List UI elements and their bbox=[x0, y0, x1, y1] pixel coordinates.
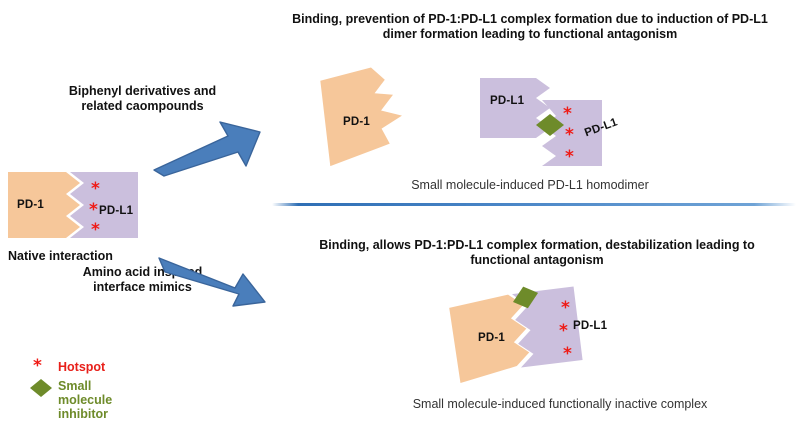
dimer-left-label: PD-L1 bbox=[490, 95, 524, 107]
bottom-panel-title: Binding, allows PD-1:PD-L1 complex forma… bbox=[282, 238, 792, 269]
native-pd1-label: PD-1 bbox=[17, 199, 44, 211]
hotspot-icon: * bbox=[563, 106, 572, 123]
free-pd1-shape bbox=[316, 68, 426, 168]
complex-pd1-label: PD-1 bbox=[478, 332, 505, 344]
upper-arrow-label: Biphenyl derivatives and related caompou… bbox=[35, 84, 250, 115]
bottom-panel-caption: Small molecule-induced functionally inac… bbox=[390, 397, 730, 412]
hotspot-icon: * bbox=[89, 202, 98, 219]
upper-arrow-icon bbox=[150, 118, 265, 178]
legend-inhibitor-label: Small molecule inhibitor bbox=[58, 379, 112, 421]
hotspot-icon: * bbox=[565, 127, 574, 144]
native-interaction-caption: Native interaction bbox=[8, 249, 178, 264]
hotspot-icon: * bbox=[565, 149, 574, 166]
figure-canvas: Binding, prevention of PD-1:PD-L1 comple… bbox=[0, 0, 800, 428]
legend-diamond-icon bbox=[30, 379, 52, 397]
complex-pdl1-label: PD-L1 bbox=[573, 320, 607, 332]
top-panel-title: Binding, prevention of PD-1:PD-L1 comple… bbox=[270, 12, 790, 43]
legend-hotspot-label: Hotspot bbox=[58, 360, 105, 374]
hotspot-icon: * bbox=[91, 181, 100, 198]
hotspot-icon: * bbox=[91, 222, 100, 239]
pdl1-left-shape bbox=[480, 78, 550, 138]
legend-asterisk-icon: * bbox=[33, 358, 42, 375]
hotspot-icon: * bbox=[559, 323, 568, 340]
native-pdl1-label: PD-L1 bbox=[99, 205, 133, 217]
panel-divider bbox=[272, 203, 796, 206]
inactive-complex bbox=[452, 292, 612, 392]
free-pd1-label: PD-1 bbox=[343, 116, 370, 128]
top-panel-caption: Small molecule-induced PD-L1 homodimer bbox=[380, 178, 680, 193]
hotspot-icon: * bbox=[563, 346, 572, 363]
hotspot-icon: * bbox=[561, 300, 570, 317]
